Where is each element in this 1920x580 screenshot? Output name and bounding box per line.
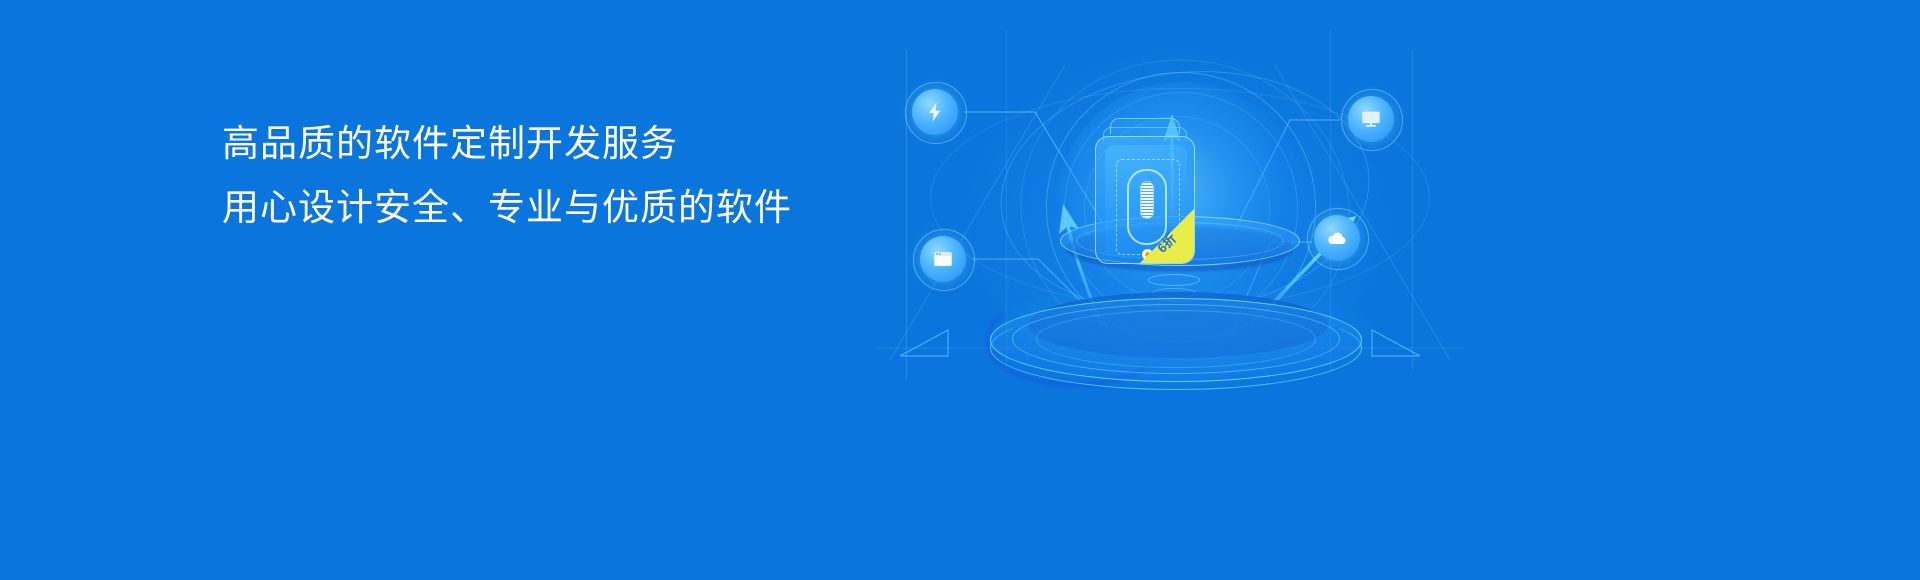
central-device: 6折 — [1092, 118, 1198, 278]
device-body: 6折 — [1095, 136, 1195, 264]
decor-triangle-right — [1372, 330, 1420, 356]
feature-icon-browser[interactable] — [920, 236, 966, 282]
feature-icon-monitor[interactable] — [1348, 96, 1394, 142]
promo-ribbon: 6折 — [1140, 209, 1194, 263]
feature-icon-lightning[interactable] — [912, 89, 958, 135]
cloud-icon — [1326, 227, 1348, 249]
headline-line-2: 用心设计安全、专业与优质的软件 — [222, 176, 862, 240]
headline-line-1: 高品质的软件定制开发服务 — [222, 112, 862, 176]
hero-illustration: 6折 — [860, 30, 1480, 370]
browser-window-icon — [932, 248, 954, 270]
hero-banner: 高品质的软件定制开发服务 用心设计安全、专业与优质的软件 — [0, 0, 1920, 580]
feature-icon-cloud[interactable] — [1314, 215, 1360, 261]
desktop-monitor-icon — [1360, 108, 1382, 130]
lightning-bolt-icon — [924, 101, 946, 123]
decor-triangle-left — [900, 330, 948, 356]
device-cap-inner — [1110, 118, 1180, 134]
headline-block: 高品质的软件定制开发服务 用心设计安全、专业与优质的软件 — [222, 112, 862, 240]
base-ring-inner-2 — [1036, 310, 1316, 368]
